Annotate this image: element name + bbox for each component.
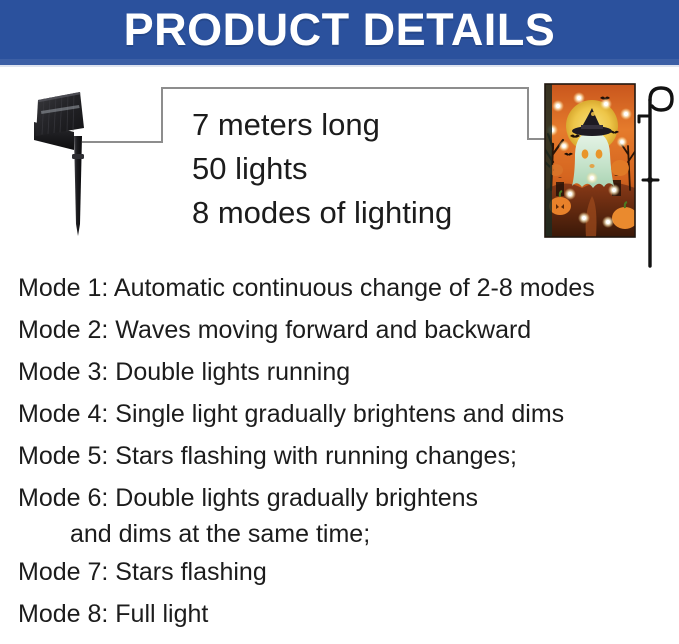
mode-row: Mode 3: Double lights running — [18, 356, 670, 398]
mode-row: Mode 8: Full light — [18, 598, 670, 640]
mode-row: Mode 2: Waves moving forward and backwar… — [18, 314, 670, 356]
page-title: PRODUCT DETAILS — [124, 7, 556, 52]
mode-label-5: Mode 5: Stars flashing with running chan… — [18, 440, 517, 473]
spec-item-light-count: 50 lights — [192, 147, 532, 191]
header-banner: PRODUCT DETAILS — [0, 0, 679, 59]
spec-list: 7 meters long 50 lights 8 modes of light… — [192, 103, 532, 235]
mode-row: Mode 5: Stars flashing with running chan… — [18, 440, 670, 482]
spec-item-length: 7 meters long — [192, 103, 532, 147]
solar-panel-icon — [22, 84, 142, 254]
mode-row: Mode 6: Double lights gradually brighten… — [18, 482, 670, 556]
mode-label-4: Mode 4: Single light gradually brightens… — [18, 398, 564, 431]
mode-row: Mode 1: Automatic continuous change of 2… — [18, 272, 670, 314]
mode-label-1: Mode 1: Automatic continuous change of 2… — [18, 272, 595, 305]
mode-label-2: Mode 2: Waves moving forward and backwar… — [18, 314, 531, 347]
spec-item-mode-count: 8 modes of lighting — [192, 191, 532, 235]
mode-label-7: Mode 7: Stars flashing — [18, 556, 267, 589]
mode-label-8: Mode 8: Full light — [18, 598, 208, 631]
header-hairline-divider — [0, 65, 679, 67]
mode-row: Mode 7: Stars flashing — [18, 556, 670, 598]
mode-label-6: Mode 6: Double lights gradually brighten… — [18, 482, 670, 515]
mode-label-3: Mode 3: Double lights running — [18, 356, 350, 389]
mode-row: Mode 4: Single light gradually brightens… — [18, 398, 670, 440]
mode-label-6-continuation: and dims at the same time; — [18, 515, 670, 553]
halloween-garden-flag-icon — [534, 70, 679, 270]
mode-list: Mode 1: Automatic continuous change of 2… — [18, 272, 670, 640]
